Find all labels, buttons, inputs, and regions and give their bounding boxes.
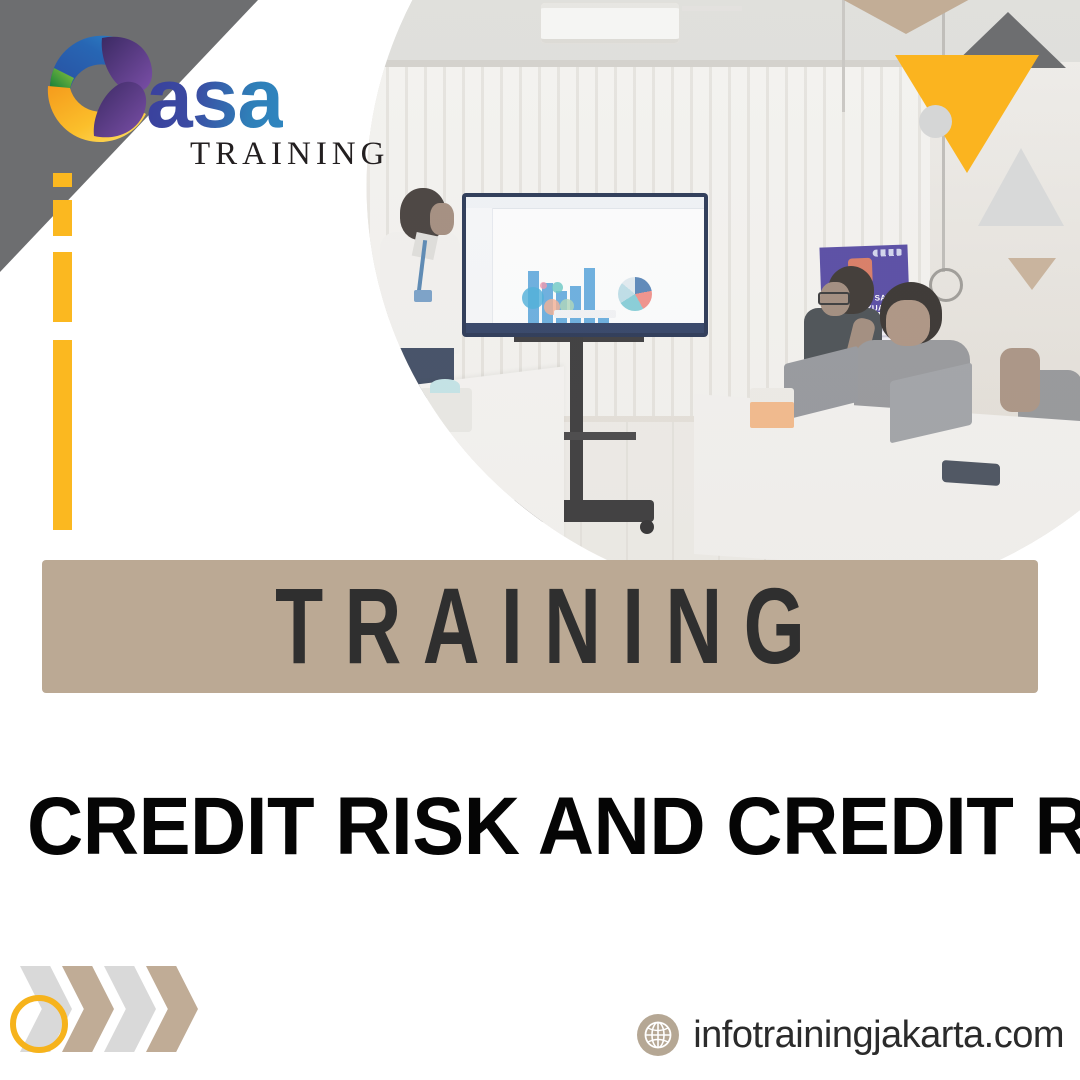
accent-bar-3	[53, 252, 72, 322]
caster-wheel	[508, 520, 522, 534]
accent-bar-4	[53, 340, 72, 530]
asa-circular-swoosh-logo-icon	[34, 18, 162, 158]
poster-canvas: KOMITMEN SAYA ANTI PENYUAPAN 01 02	[0, 0, 1080, 1080]
brand-logo[interactable]: asa TRAINING	[34, 18, 354, 168]
website-url[interactable]: infotrainingjakarta.com	[693, 1016, 1064, 1054]
page-title: CREDIT RISK AND CREDIT REMEDIAL	[27, 786, 1053, 868]
accent-bar-1	[53, 173, 72, 187]
presenter-watch	[378, 343, 394, 356]
training-banner: TRAINING	[42, 560, 1038, 693]
logo-subtitle: TRAINING	[190, 138, 389, 171]
light-triangle-shape	[978, 148, 1064, 226]
globe-icon	[637, 1014, 679, 1056]
small-tan-triangle-shape	[1008, 258, 1056, 290]
website-footer[interactable]: infotrainingjakarta.com	[637, 1014, 1064, 1056]
logo-wordmark: asa	[146, 56, 283, 140]
training-banner-label: TRAINING	[254, 573, 826, 681]
orange-ring-icon	[10, 995, 68, 1053]
accent-bar-2	[53, 200, 72, 236]
grey-circle-shape	[919, 105, 952, 138]
